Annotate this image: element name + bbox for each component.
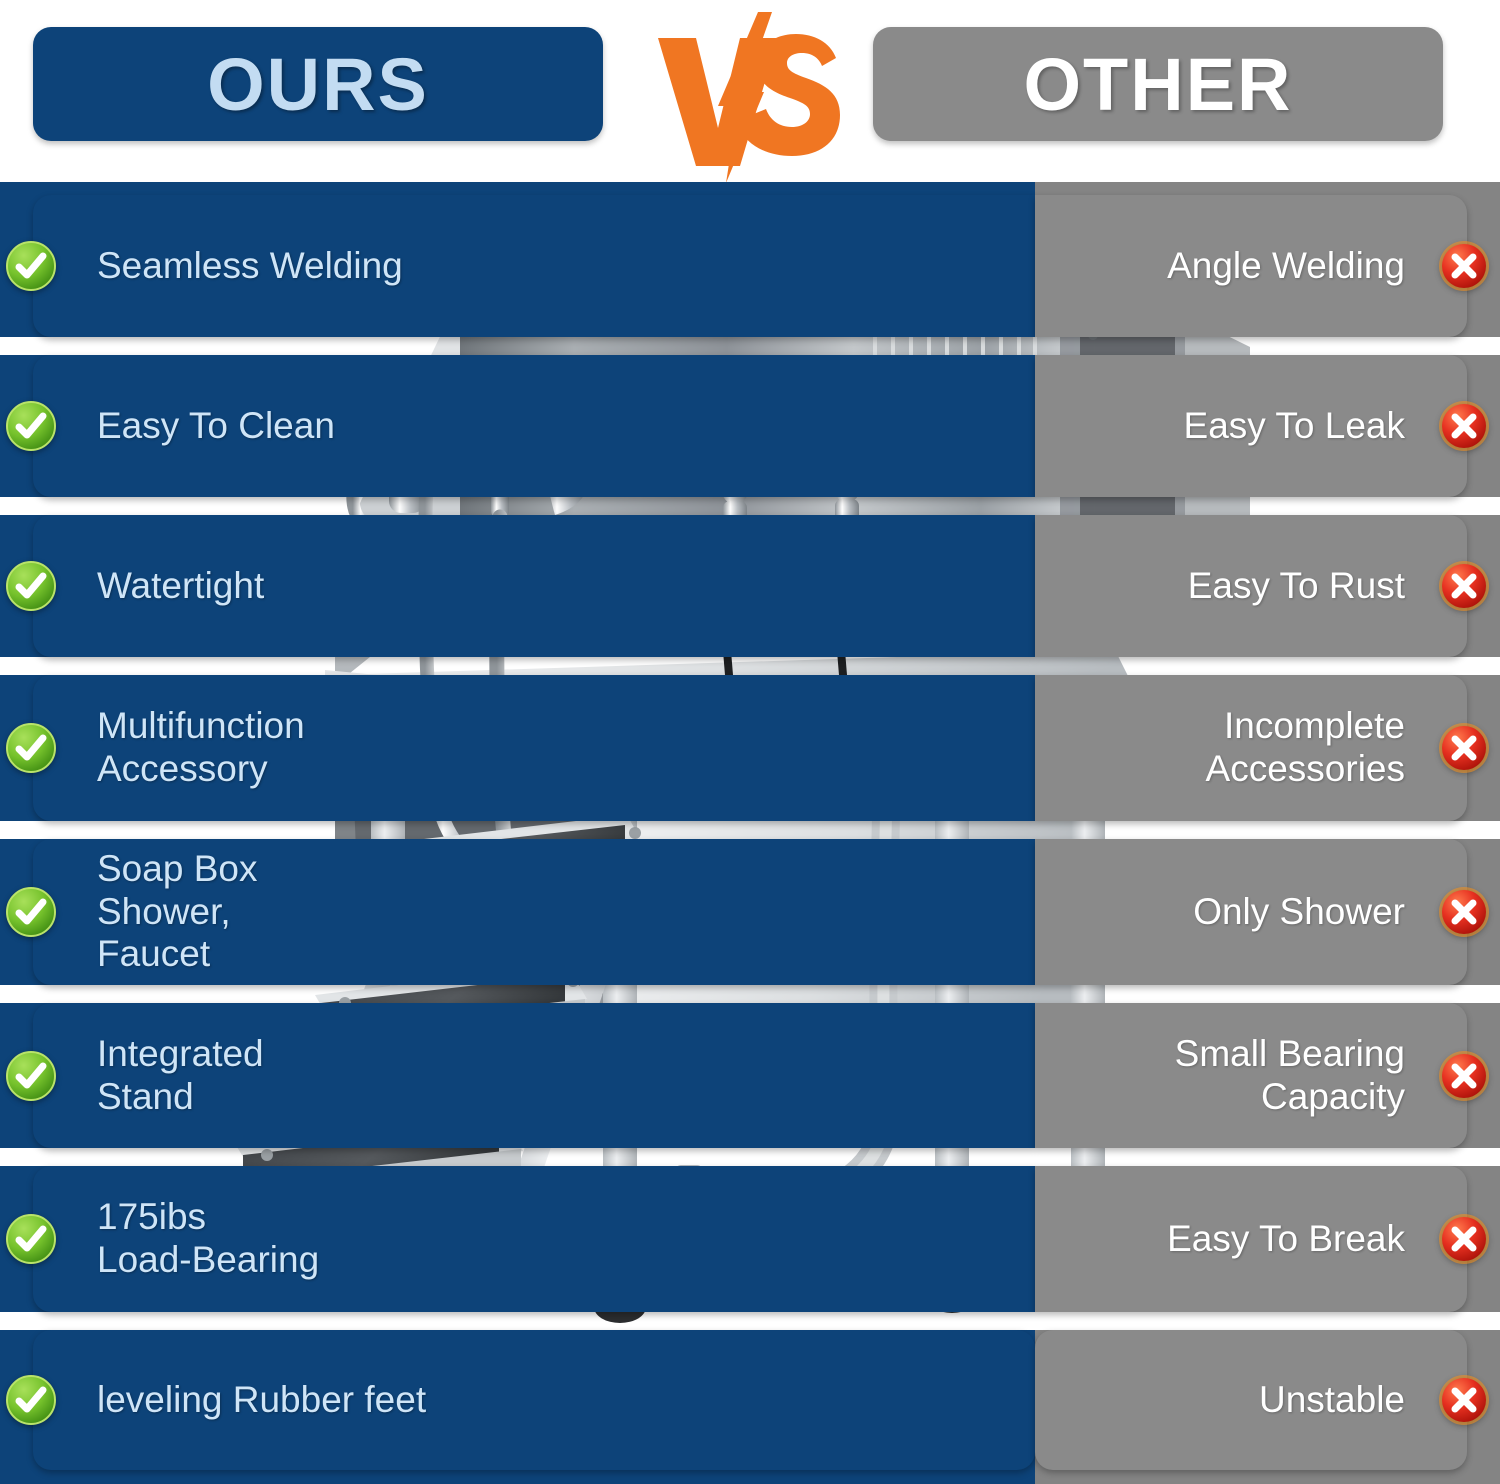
ours-feature-label: Soap Box Shower, Faucet [97, 848, 257, 977]
ours-feature-label: Multifunction Accessory [97, 705, 305, 791]
other-feature-label: Incomplete Accessories [1206, 705, 1405, 791]
row-separator [0, 657, 1500, 675]
comparison-row: leveling Rubber feet Unstable [0, 1330, 1500, 1470]
other-feature-pill: Incomplete Accessories [1035, 675, 1467, 821]
ours-feature-label: Easy To Clean [97, 405, 335, 448]
other-feature-pill: Only Shower [1035, 839, 1467, 985]
ours-feature-label: leveling Rubber feet [97, 1379, 426, 1422]
other-feature-label: Easy To Leak [1184, 405, 1405, 448]
check-circle-icon [5, 400, 57, 452]
check-circle-icon [5, 560, 57, 612]
row-separator [0, 985, 1500, 1003]
comparison-row: Integrated Stand Small Bearing Capacity [0, 1003, 1500, 1148]
vs-badge [640, 10, 860, 185]
other-feature-pill: Easy To Leak [1035, 355, 1467, 497]
ours-feature-pill: leveling Rubber feet [33, 1330, 1035, 1470]
cross-circle-icon [1438, 400, 1490, 452]
comparison-infographic: OURS OTHER [0, 0, 1500, 1484]
ours-feature-pill: Watertight [33, 515, 1035, 657]
other-feature-label: Unstable [1259, 1379, 1405, 1422]
check-circle-icon [5, 1213, 57, 1265]
other-feature-label: Angle Welding [1167, 245, 1405, 288]
ours-header-pill: OURS [33, 27, 603, 141]
comparison-row: 175ibs Load-Bearing Easy To Break [0, 1166, 1500, 1312]
ours-feature-pill: Integrated Stand [33, 1003, 1035, 1148]
other-feature-pill: Small Bearing Capacity [1035, 1003, 1467, 1148]
check-circle-icon [5, 722, 57, 774]
other-feature-label: Only Shower [1193, 891, 1405, 934]
other-feature-pill: Easy To Rust [1035, 515, 1467, 657]
cross-circle-icon [1438, 1213, 1490, 1265]
comparison-row: Easy To Clean Easy To Leak [0, 355, 1500, 497]
cross-circle-icon [1438, 886, 1490, 938]
check-circle-icon [5, 240, 57, 292]
ours-feature-pill: Easy To Clean [33, 355, 1035, 497]
check-circle-icon [5, 886, 57, 938]
other-feature-label: Small Bearing Capacity [1175, 1033, 1405, 1119]
comparison-row: Watertight Easy To Rust [0, 515, 1500, 657]
check-circle-icon [5, 1050, 57, 1102]
ours-feature-label: Watertight [97, 565, 264, 608]
other-feature-pill: Unstable [1035, 1330, 1467, 1470]
header: OURS OTHER [0, 0, 1500, 182]
other-feature-label: Easy To Rust [1188, 565, 1405, 608]
check-circle-icon [5, 1374, 57, 1426]
row-separator [0, 337, 1500, 355]
row-separator [0, 821, 1500, 839]
other-feature-pill: Angle Welding [1035, 195, 1467, 337]
ours-feature-label: Seamless Welding [97, 245, 403, 288]
row-separator [0, 1312, 1500, 1330]
other-header-label: OTHER [1024, 42, 1293, 127]
row-separator [0, 1148, 1500, 1166]
ours-feature-pill: Multifunction Accessory [33, 675, 1035, 821]
comparison-row: Soap Box Shower, Faucet Only Shower [0, 839, 1500, 985]
comparison-row: Seamless Welding Angle Welding [0, 195, 1500, 337]
cross-circle-icon [1438, 1050, 1490, 1102]
ours-feature-pill: 175ibs Load-Bearing [33, 1166, 1035, 1312]
other-feature-label: Easy To Break [1167, 1218, 1405, 1261]
comparison-row: Multifunction Accessory Incomplete Acces… [0, 675, 1500, 821]
cross-circle-icon [1438, 722, 1490, 774]
cross-circle-icon [1438, 1374, 1490, 1426]
other-feature-pill: Easy To Break [1035, 1166, 1467, 1312]
ours-feature-pill: Soap Box Shower, Faucet [33, 839, 1035, 985]
other-header-pill: OTHER [873, 27, 1443, 141]
row-separator [0, 497, 1500, 515]
ours-feature-pill: Seamless Welding [33, 195, 1035, 337]
cross-circle-icon [1438, 240, 1490, 292]
cross-circle-icon [1438, 560, 1490, 612]
ours-header-label: OURS [207, 42, 429, 127]
ours-feature-label: 175ibs Load-Bearing [97, 1196, 319, 1282]
ours-feature-label: Integrated Stand [97, 1033, 264, 1119]
